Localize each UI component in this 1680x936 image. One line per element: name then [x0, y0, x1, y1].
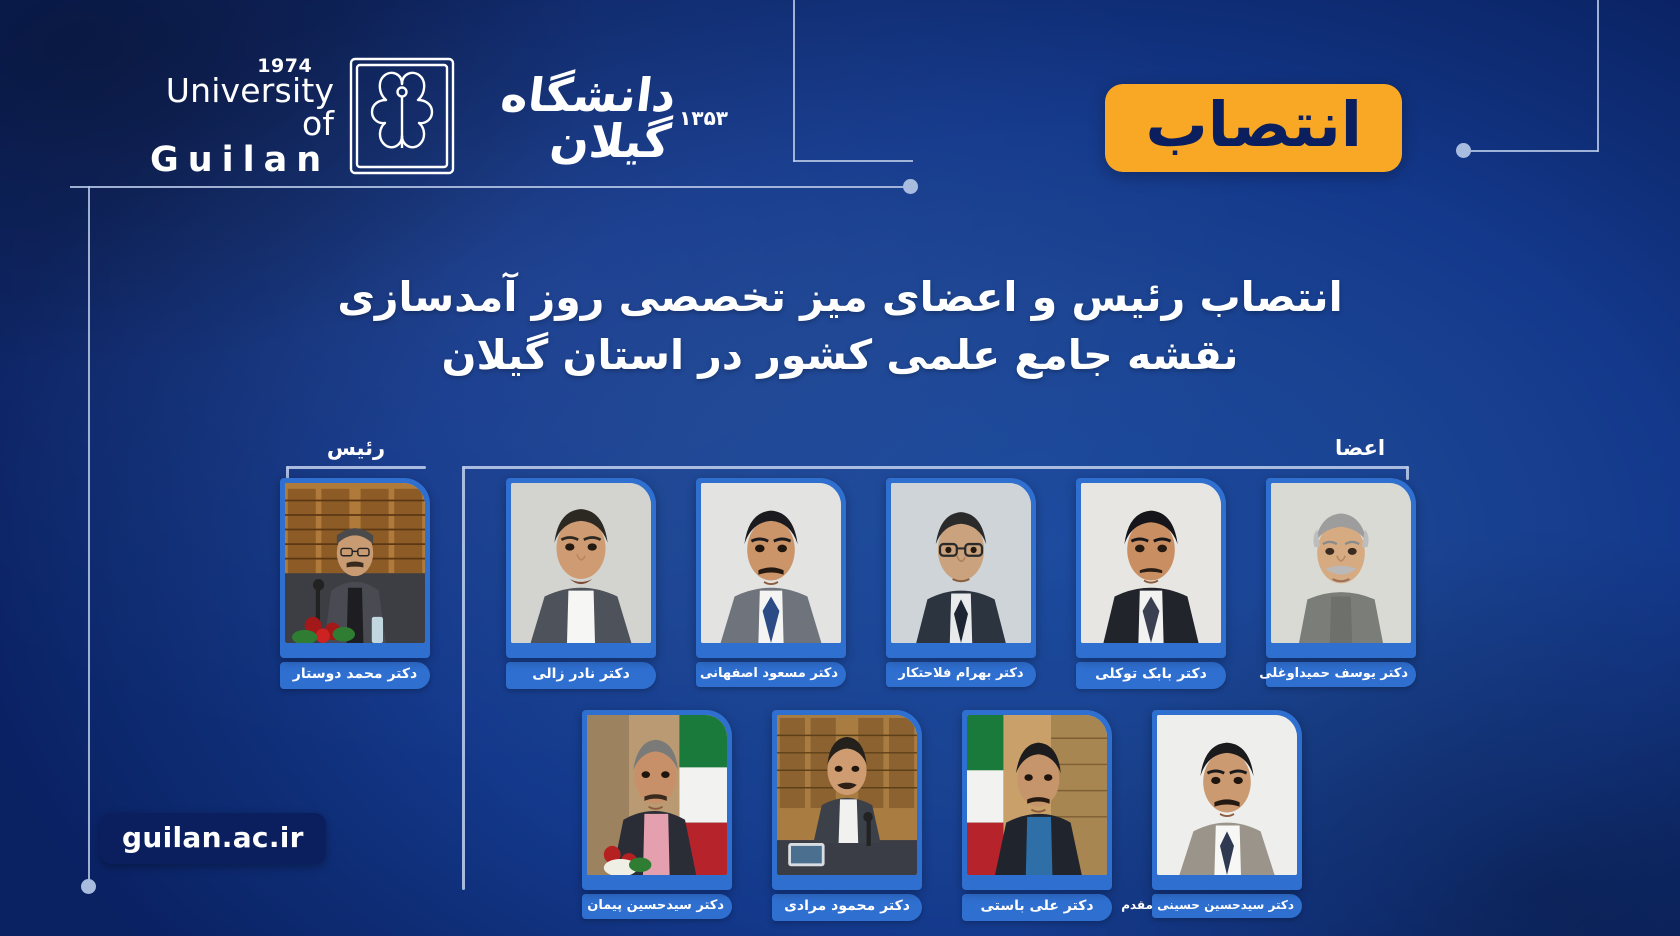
person-name: دکتر محمود مرادی	[772, 894, 922, 921]
portrait-photo	[891, 483, 1031, 643]
photo-frame	[962, 710, 1112, 890]
members-group-rule	[462, 466, 1409, 469]
person-name: دکتر بهرام فلاحتکار	[886, 662, 1036, 687]
logo-persian-text: ۱۳۵۳ دانشگاه گیلان	[470, 72, 730, 164]
chair-group-label: رئیس	[276, 436, 436, 460]
logo-line2-en: Guilan	[150, 143, 334, 178]
person-card-member-2[interactable]: دکتر بابک توکلی	[1076, 478, 1226, 689]
photo-frame	[886, 478, 1036, 658]
portrait-photo	[967, 715, 1107, 875]
deco-line-top-horizontal	[793, 160, 913, 162]
photo-frame	[506, 478, 656, 658]
photo-frame	[772, 710, 922, 890]
deco-dot-left-bottom	[81, 879, 96, 894]
deco-line-top-vertical	[793, 0, 795, 162]
portrait-photo	[1271, 483, 1411, 643]
person-card-chair[interactable]: دکتر محمد دوستار	[280, 478, 430, 689]
logo-english-text: 1974 University of Guilan	[150, 57, 334, 178]
portrait-photo	[587, 715, 727, 875]
deco-dot-right	[1456, 143, 1471, 158]
person-name: دکتر نادر زالی	[506, 662, 656, 689]
members-group-label: اعضا	[1280, 436, 1440, 460]
person-name: دکتر سیدحسین پیمان	[582, 894, 732, 919]
deco-line-right-horizontal	[1470, 150, 1598, 152]
person-name: دکتر سیدحسین حسینی مقدم	[1152, 894, 1302, 918]
deco-line-left-horizontal	[70, 186, 910, 188]
deco-dot-left-horizontal-end	[903, 179, 918, 194]
deco-line-right-vertical	[1597, 0, 1599, 152]
person-name: دکتر یوسف حمیداوغلی	[1266, 662, 1416, 687]
photo-frame	[1152, 710, 1302, 890]
logo-year-fa: ۱۳۵۳	[679, 106, 728, 130]
portrait-photo	[511, 483, 651, 643]
person-card-member-5[interactable]: دکتر نادر زالی	[506, 478, 656, 689]
portrait-photo	[1157, 715, 1297, 875]
portrait-photo	[701, 483, 841, 643]
university-crest-icon	[348, 56, 456, 180]
photo-frame	[582, 710, 732, 890]
person-name: دکتر علی باستی	[962, 894, 1112, 921]
person-name: دکتر محمد دوستار	[280, 662, 430, 689]
person-card-member-7[interactable]: دکتر علی باستی	[962, 710, 1112, 921]
university-logo: 1974 University of Guilan ۱۳۵۳ دانشگاه گ…	[150, 55, 730, 180]
chair-group-rule	[286, 466, 426, 469]
title-line-1: انتصاب رئیس و اعضای میز تخصصی روز آمدساز…	[0, 268, 1680, 326]
poster-canvas: 1974 University of Guilan ۱۳۵۳ دانشگاه گ…	[0, 0, 1680, 936]
person-card-member-9[interactable]: دکتر سیدحسین پیمان	[582, 710, 732, 919]
appointment-badge: انتصاب	[1105, 84, 1402, 172]
person-card-member-8[interactable]: دکتر محمود مرادی	[772, 710, 922, 921]
logo-name-fa: دانشگاه گیلان	[465, 72, 679, 164]
photo-frame	[696, 478, 846, 658]
portrait-photo	[1081, 483, 1221, 643]
photo-frame	[1266, 478, 1416, 658]
person-card-member-6[interactable]: دکتر سیدحسین حسینی مقدم	[1152, 710, 1302, 918]
person-name: دکتر مسعود اصفهانی	[696, 662, 846, 687]
title-line-2: نقشه جامع علمی کشور در استان گیلان	[0, 326, 1680, 384]
person-card-member-1[interactable]: دکتر یوسف حمیداوغلی	[1266, 478, 1416, 687]
page-title: انتصاب رئیس و اعضای میز تخصصی روز آمدساز…	[0, 268, 1680, 384]
photo-frame	[1076, 478, 1226, 658]
person-card-member-3[interactable]: دکتر بهرام فلاحتکار	[886, 478, 1036, 687]
portrait-photo	[777, 715, 917, 875]
person-card-member-4[interactable]: دکتر مسعود اصفهانی	[696, 478, 846, 687]
logo-line1-en: University of	[150, 74, 334, 140]
members-group-rule-drop-left	[462, 466, 465, 890]
website-badge[interactable]: guilan.ac.ir	[100, 813, 326, 864]
person-name: دکتر بابک توکلی	[1076, 662, 1226, 689]
photo-frame	[280, 478, 430, 658]
portrait-photo	[285, 483, 425, 643]
